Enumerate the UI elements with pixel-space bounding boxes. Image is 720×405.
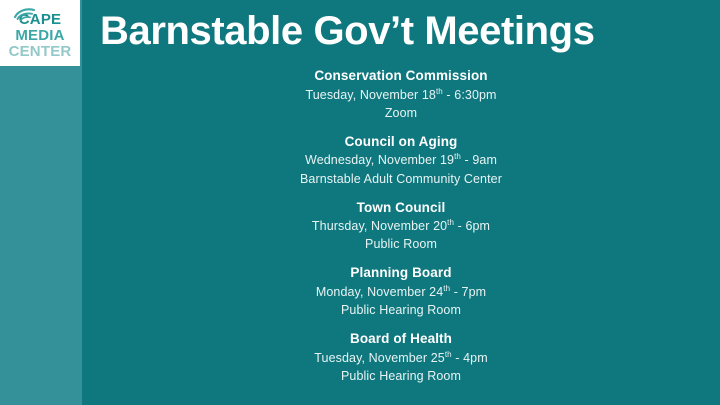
meeting-name: Conservation Commission (82, 66, 720, 86)
date-ordinal-suffix: th (445, 350, 452, 359)
meeting-location: Public Hearing Room (82, 301, 720, 319)
cape-media-center-logo: CAPE MEDIA CENTER (0, 0, 80, 66)
wifi-signal-icon (13, 6, 39, 21)
logo-text-center: CENTER (9, 44, 72, 60)
page-title: Barnstable Gov’t Meetings (100, 9, 710, 53)
meeting-list: Conservation Commission Tuesday, Novembe… (82, 66, 720, 405)
meeting-time: - 7pm (450, 285, 486, 299)
meeting-time: - 6:30pm (443, 88, 497, 102)
meeting-item: Town Council Thursday, November 20th - 6… (82, 198, 720, 254)
meeting-date: Tuesday, November 18 (305, 88, 436, 102)
meeting-location: Public Room (82, 235, 720, 253)
meeting-time: - 9am (461, 153, 497, 167)
meeting-datetime: Monday, November 24th - 7pm (82, 283, 720, 301)
date-ordinal-suffix: th (454, 152, 461, 161)
meeting-date: Tuesday, November 25 (314, 351, 445, 365)
meeting-datetime: Tuesday, November 18th - 6:30pm (82, 86, 720, 104)
meeting-time: - 4pm (452, 351, 488, 365)
meeting-item: Board of Health Tuesday, November 25th -… (82, 329, 720, 385)
logo-text-media: MEDIA (15, 28, 64, 44)
meeting-location: Barnstable Adult Community Center (82, 170, 720, 188)
meeting-date: Thursday, November 20 (312, 219, 447, 233)
meetings-slide: CAPE MEDIA CENTER Barnstable Gov’t Meeti… (0, 0, 720, 405)
meeting-item: Planning Board Monday, November 24th - 7… (82, 263, 720, 319)
meeting-time: - 6pm (454, 219, 490, 233)
meeting-name: Board of Health (82, 329, 720, 349)
meeting-name: Planning Board (82, 263, 720, 283)
meeting-date: Wednesday, November 19 (305, 153, 454, 167)
meeting-item: Conservation Commission Tuesday, Novembe… (82, 66, 720, 122)
meeting-name: Council on Aging (82, 132, 720, 152)
meeting-name: Town Council (82, 198, 720, 218)
date-ordinal-suffix: th (436, 86, 443, 95)
meeting-datetime: Tuesday, November 25th - 4pm (82, 349, 720, 367)
meeting-location: Public Hearing Room (82, 367, 720, 385)
meeting-item: Council on Aging Wednesday, November 19t… (82, 132, 720, 188)
meeting-datetime: Wednesday, November 19th - 9am (82, 151, 720, 169)
meeting-date: Monday, November 24 (316, 285, 443, 299)
meeting-datetime: Thursday, November 20th - 6pm (82, 217, 720, 235)
meeting-location: Zoom (82, 104, 720, 122)
